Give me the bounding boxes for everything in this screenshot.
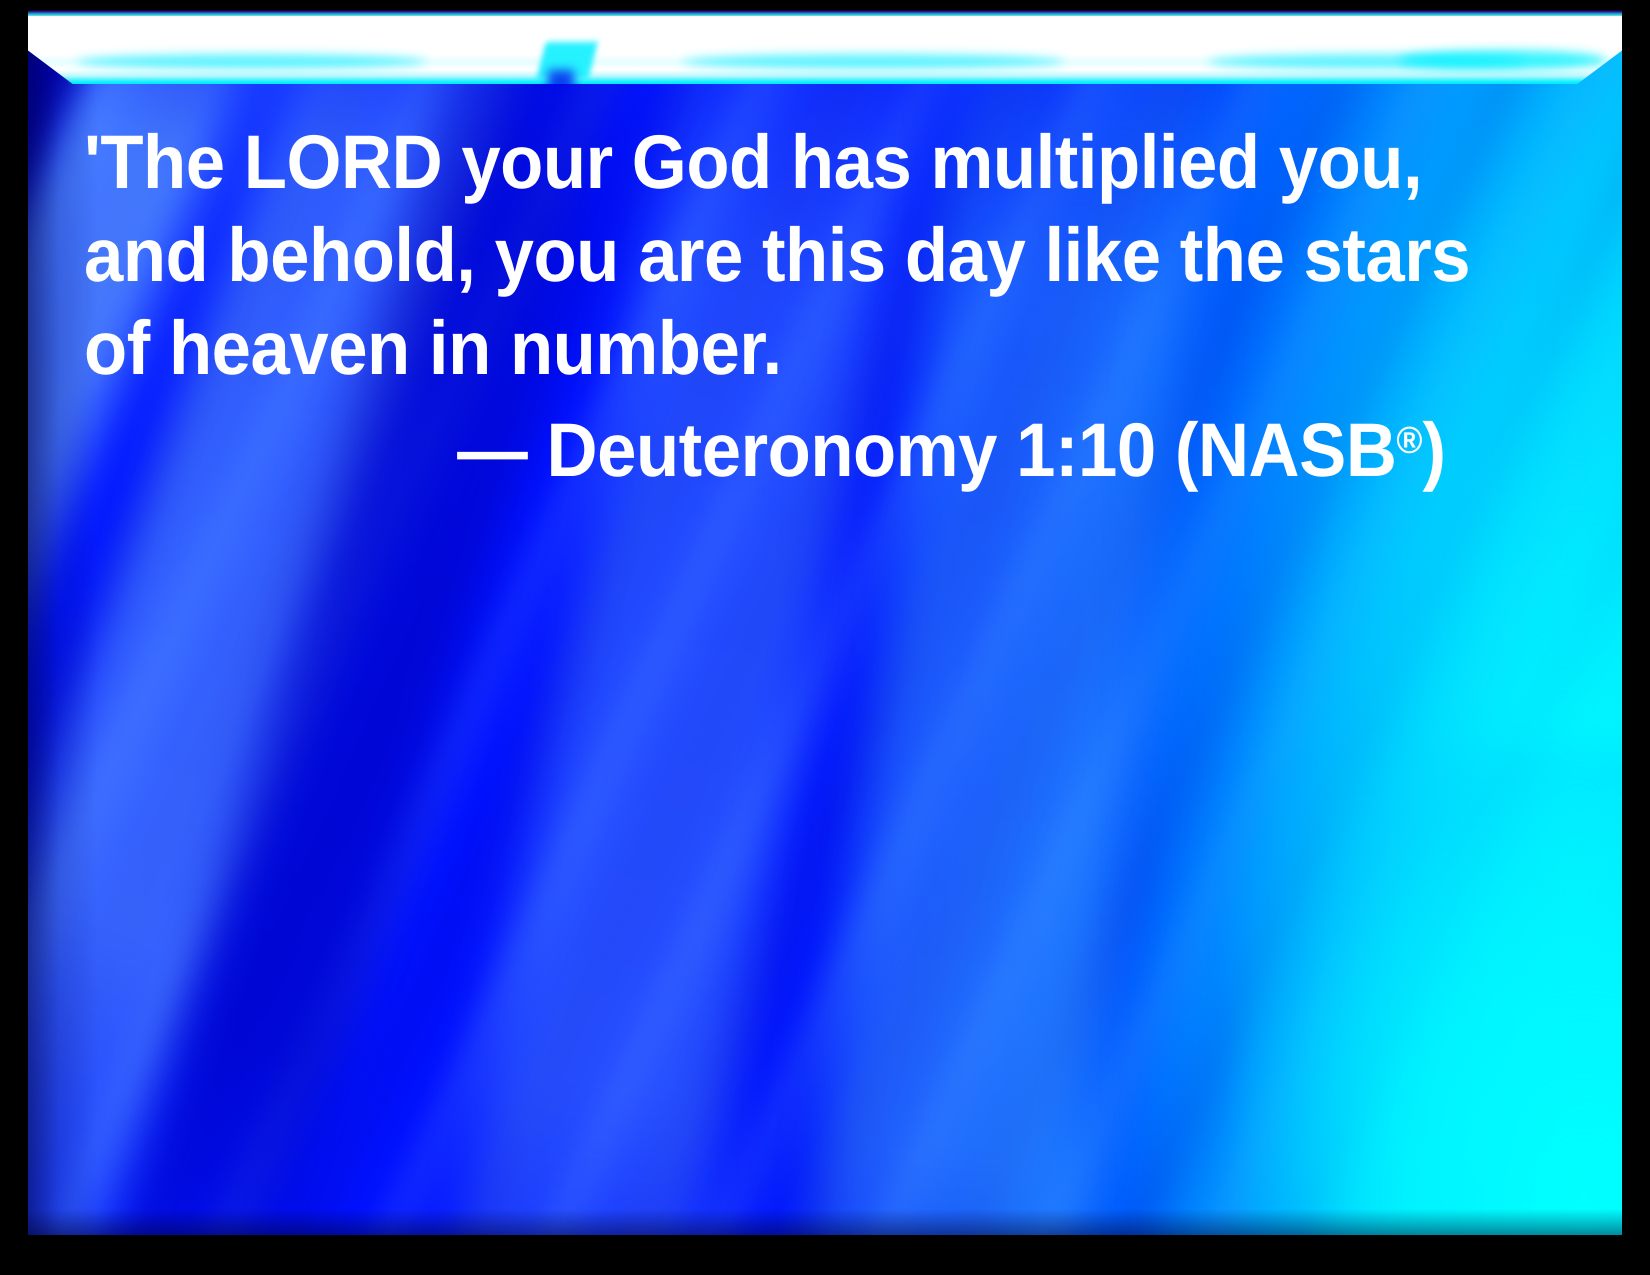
- cyan-glow-bottom-right: [1239, 744, 1622, 1235]
- slide-artwork-area: 'The LORD your God has multiplied you, a…: [28, 8, 1622, 1235]
- verse-line-3: of heaven in number.: [84, 302, 1460, 395]
- band-wisp-2: [682, 54, 1065, 69]
- verse-slide: 'The LORD your God has multiplied you, a…: [0, 0, 1650, 1275]
- registered-trademark-icon: ®: [1396, 420, 1422, 462]
- decorative-top-band: [28, 8, 1622, 84]
- vignette-bottom: [28, 1209, 1622, 1235]
- band-wisp-4: [1399, 50, 1606, 70]
- verse-line-1: 'The LORD your God has multiplied you,: [84, 116, 1460, 209]
- attribution-suffix: ): [1422, 408, 1445, 493]
- band-wisp-1: [76, 54, 427, 69]
- top-rule-line: [28, 8, 1622, 16]
- verse-text-block: 'The LORD your God has multiplied you, a…: [84, 116, 1460, 497]
- attribution-prefix: — Deuteronomy 1:10 (NASB: [457, 408, 1396, 493]
- verse-attribution: — Deuteronomy 1:10 (NASB®): [84, 395, 1460, 497]
- verse-line-2: and behold, you are this day like the st…: [84, 209, 1460, 302]
